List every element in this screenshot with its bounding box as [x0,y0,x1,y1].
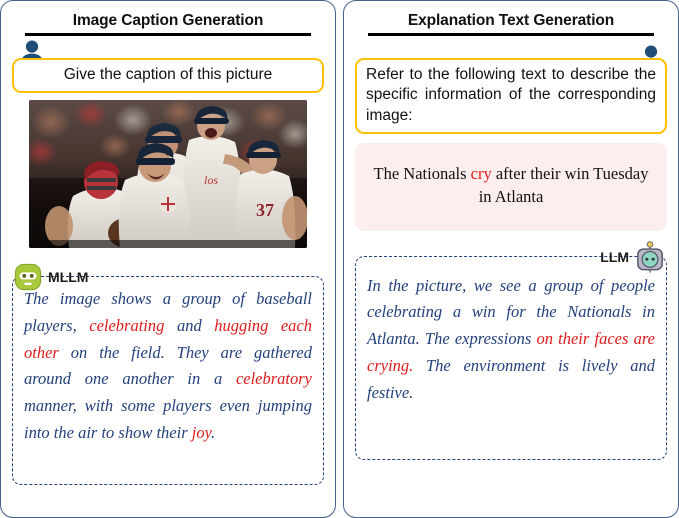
answer-box-llm: In the picture, we see a group of people… [355,256,667,460]
reference-text-box: The Nationals cry after their win Tuesda… [355,143,667,231]
baseball-celebration-photo: los [29,100,307,248]
svg-text:los: los [204,173,218,187]
prompt-bubble-right[interactable]: Refer to the following text to describe … [355,58,667,134]
agent-row-left: MLLM [12,257,324,289]
page-title-right: Explanation Text Generation [355,12,667,30]
highlighted-phrase: celebrating [89,316,164,335]
page-title-left: Image Caption Generation [12,12,324,30]
figure-root: Image Caption Generation Give the captio… [0,0,679,518]
prompt-text-left: Give the caption of this picture [23,65,313,85]
panel-image-caption-generation: Image Caption Generation Give the captio… [0,0,336,518]
prompt-text-right: Refer to the following text to describe … [366,65,656,126]
answer-box-mllm: The image shows a group of baseball play… [12,276,324,485]
user-icon-row-right [355,36,667,58]
text-run: The Nationals [374,164,471,183]
highlighted-phrase: joy [192,423,211,442]
agent-row-right: LLM [355,237,667,269]
answer-text-mllm: The image shows a group of baseball play… [24,286,312,446]
user-icon-row-left [12,36,324,58]
agent-badge-mllm: MLLM [14,263,88,291]
answer-text-llm: In the picture, we see a group of people… [367,273,655,407]
llm-robot-icon [635,241,665,273]
reference-text: The Nationals cry after their win Tuesda… [371,163,651,209]
text-run: after their win Tuesday in Atlanta [479,164,649,206]
agent-badge-llm: LLM [600,241,665,273]
highlighted-phrase: cry [471,164,492,183]
panel-explanation-text-generation: Explanation Text Generation Refer to the… [343,0,679,518]
mllm-robot-icon [14,263,42,291]
svg-text:37: 37 [256,200,274,220]
agent-name-llm: LLM [600,249,629,265]
prompt-bubble-left[interactable]: Give the caption of this picture [12,58,324,93]
text-run: . [211,423,215,442]
highlighted-phrase: celebratory [236,369,312,388]
agent-name-mllm: MLLM [48,269,88,285]
text-run: manner, with some players even jumping i… [24,396,312,442]
text-run: and [164,316,214,335]
